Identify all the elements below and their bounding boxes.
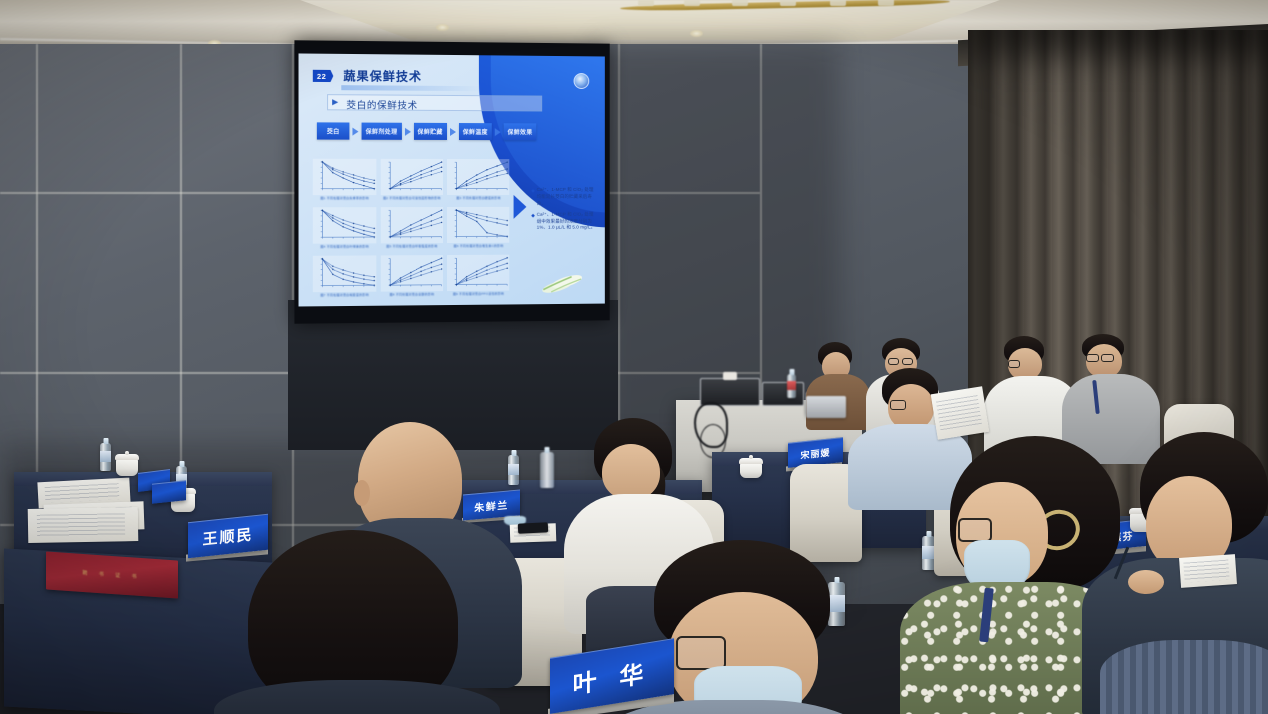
flow-step-3: 保鲜贮藏 [413, 123, 446, 140]
slide-subtitle: 茭白的保鲜技术 [346, 97, 417, 112]
flow-step-2: 保鲜剂处理 [362, 123, 402, 140]
tumbler-bottle [540, 452, 554, 488]
water-bottle [100, 443, 111, 471]
note-bullet-icon: ◆ [531, 211, 534, 232]
mini-chart: 图8 不同处理对茭白总酚的影响 [380, 255, 443, 300]
slide-logo-icon [574, 73, 590, 89]
mini-chart: 图3 不同处理对茭白硬度的影响 [447, 159, 509, 203]
flow-arrow-icon [404, 127, 410, 135]
slide-emphasis-arrow-icon [514, 195, 527, 219]
chandelier [620, 0, 950, 20]
mini-chart-caption: 图3 不同处理对茭白硬度的影响 [447, 196, 509, 200]
flow-step-1: 茭白 [317, 122, 350, 139]
water-bottle [787, 374, 796, 398]
flow-arrow-icon [450, 127, 456, 135]
flow-arrow-icon [352, 127, 358, 135]
slide-note-2: Ca²⁺、1-MCP 和 ClO₂ 处理组中效果最好的浓度分别为 1%、1.0 … [537, 211, 596, 232]
mini-chart-caption: 图2 不同处理对茭白可溶性固形物的影响 [380, 196, 443, 200]
mini-chart-caption: 图8 不同处理对茭白总酚的影响 [380, 292, 443, 297]
flow-step-4: 保鲜温度 [459, 123, 492, 140]
slide-title: 蔬果保鲜技术 [343, 67, 422, 85]
slide-note-1: Ca²⁺、1-MCP 和 ClO₂ 处理均能延长茭白的贮藏采后寿命。 [537, 187, 596, 208]
ear [354, 480, 370, 506]
arrow-bullet-icon [332, 99, 338, 105]
slide-chart-grid: 图1 不同处理对茭白失重率的影响图2 不同处理对茭白可溶性固形物的影响图3 不同… [313, 159, 510, 301]
eyeglasses [676, 636, 726, 670]
laptop-screen [762, 382, 804, 406]
hand [1128, 570, 1164, 594]
certificate-folder-text: 聘 书 证 书 [82, 569, 141, 580]
remote-control [723, 372, 737, 380]
water-bottle [508, 455, 519, 485]
slide-number: 22 [313, 70, 334, 82]
mini-chart-caption: 图9 不同处理对茭白PPO活性的影响 [447, 292, 509, 297]
mini-chart: 图5 不同处理对茭白呼吸强度的影响 [380, 207, 443, 251]
downlight-icon [436, 24, 449, 31]
mini-chart-caption: 图1 不同处理对茭白失重率的影响 [313, 196, 377, 200]
projection-screen: 22 蔬果保鲜技术 茭白的保鲜技术 茭白 保鲜剂处理 保鲜贮藏 保鲜温度 保鲜效… [299, 53, 605, 306]
mini-chart: 图4 不同处理对茭白叶绿素的影响 [313, 207, 377, 252]
mini-chart-caption: 图5 不同处理对茭白呼吸强度的影响 [380, 244, 443, 248]
mini-chart-caption: 图7 不同处理对茭白褐变度的影响 [313, 293, 377, 298]
mini-chart: 图7 不同处理对茭白褐变度的影响 [313, 255, 377, 300]
conference-room-scene: 22 蔬果保鲜技术 茭白的保鲜技术 茭白 保鲜剂处理 保鲜贮藏 保鲜温度 保鲜效… [0, 0, 1268, 714]
document-page [931, 386, 990, 440]
mini-chart: 图9 不同处理对茭白PPO活性的影响 [447, 255, 509, 299]
projection-screen-frame: 22 蔬果保鲜技术 茭白的保鲜技术 茭白 保鲜剂处理 保鲜贮藏 保鲜温度 保鲜效… [294, 40, 609, 323]
smartphone [518, 522, 548, 534]
mini-chart: 图2 不同处理对茭白可溶性固形物的影响 [380, 159, 443, 203]
document-page [28, 507, 139, 543]
tea-cup [740, 462, 762, 478]
flow-arrow-icon [495, 128, 501, 136]
name-placard-small [152, 480, 186, 504]
slide-subtitle-box: 茭白的保鲜技术 [327, 94, 542, 111]
water-bamboo-illustration [540, 270, 587, 296]
eyeglasses [958, 518, 992, 542]
slide-flow-diagram: 茭白 保鲜剂处理 保鲜贮藏 保鲜温度 保鲜效果 [317, 122, 537, 140]
flow-step-5: 保鲜效果 [504, 123, 537, 140]
mini-chart-caption: 图4 不同处理对茭白叶绿素的影响 [313, 244, 377, 248]
slide-title-underline [341, 85, 482, 91]
laptop [806, 396, 846, 418]
tea-cup [116, 458, 138, 476]
mini-chart: 图1 不同处理对茭白失重率的影响 [313, 159, 377, 203]
downlight-icon [690, 30, 703, 37]
mini-chart-caption: 图6 不同处理对茭白维生素C的影响 [447, 244, 509, 248]
mini-chart: 图6 不同处理对茭白维生素C的影响 [447, 207, 509, 251]
slide-notes: ◆ Ca²⁺、1-MCP 和 ClO₂ 处理均能延长茭白的贮藏采后寿命。 ◆ C… [531, 187, 596, 236]
note-bullet-icon: ◆ [531, 187, 534, 208]
notebook-page [1179, 554, 1237, 588]
water-bottle [828, 582, 845, 626]
striped-shirt [1100, 640, 1268, 714]
